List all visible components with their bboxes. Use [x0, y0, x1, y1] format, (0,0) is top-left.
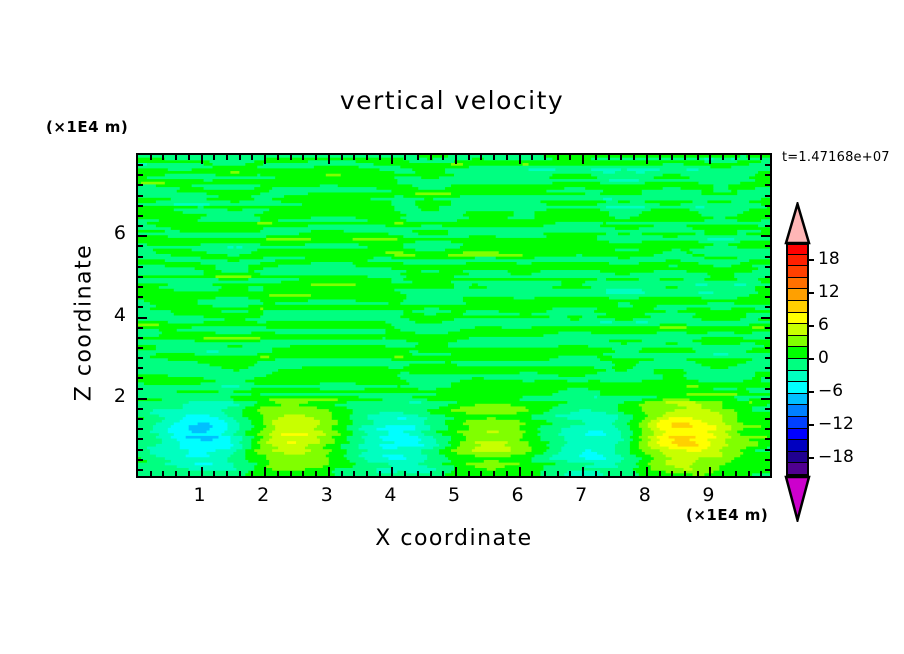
- chart-title: vertical velocity: [0, 86, 904, 115]
- y-tick-label-6: 6: [86, 222, 126, 244]
- colorbar-label-6: 6: [818, 315, 829, 335]
- colorbar-label--6: −6: [818, 381, 843, 401]
- axis-tick: [646, 155, 648, 164]
- axis-tick: [226, 155, 228, 160]
- x-tick-label-2: 2: [243, 484, 283, 506]
- axis-tick: [765, 449, 770, 451]
- axis-tick: [531, 155, 533, 160]
- axis-tick: [290, 471, 292, 476]
- colorbar-tick: [809, 292, 814, 294]
- colorbar-tick: [809, 457, 814, 459]
- axis-tick: [162, 471, 164, 476]
- x-axis-units-label: (×1E4 m): [686, 506, 768, 524]
- axis-tick: [455, 155, 457, 164]
- axis-tick: [328, 155, 330, 164]
- axis-tick: [264, 467, 266, 476]
- axis-tick: [765, 195, 770, 197]
- axis-tick: [138, 327, 143, 329]
- axis-tick: [722, 155, 724, 160]
- axis-tick: [709, 155, 711, 164]
- axis-tick: [150, 155, 152, 160]
- axis-tick: [765, 306, 770, 308]
- axis-tick: [138, 215, 143, 217]
- axis-tick: [379, 155, 381, 160]
- x-axis-title: X coordinate: [136, 526, 772, 551]
- axis-tick: [557, 155, 559, 160]
- axis-tick: [430, 155, 432, 160]
- axis-tick: [765, 438, 770, 440]
- axis-tick: [544, 471, 546, 476]
- axis-tick: [138, 408, 143, 410]
- colorbar-tick: [809, 391, 814, 393]
- axis-tick: [366, 155, 368, 160]
- axis-tick: [519, 467, 521, 476]
- axis-tick: [765, 164, 770, 166]
- axis-tick: [765, 205, 770, 207]
- axis-tick: [608, 155, 610, 160]
- axis-tick: [671, 471, 673, 476]
- colorbar-tick: [809, 325, 814, 327]
- axis-tick: [201, 467, 203, 476]
- axis-tick: [735, 155, 737, 160]
- axis-tick: [765, 388, 770, 390]
- axis-tick: [175, 471, 177, 476]
- x-tick-label-8: 8: [625, 484, 665, 506]
- x-tick-label-4: 4: [370, 484, 410, 506]
- axis-tick: [633, 471, 635, 476]
- axis-tick: [468, 471, 470, 476]
- axis-tick: [188, 155, 190, 160]
- axis-tick: [671, 155, 673, 160]
- axis-tick: [138, 184, 143, 186]
- axis-tick: [138, 195, 143, 197]
- colorbar-under-arrow: [784, 474, 811, 522]
- axis-tick: [765, 286, 770, 288]
- axis-tick: [765, 337, 770, 339]
- axis-tick: [138, 398, 147, 400]
- x-tick-label-5: 5: [434, 484, 474, 506]
- axis-tick: [748, 155, 750, 160]
- axis-tick: [544, 155, 546, 160]
- axis-tick: [493, 155, 495, 160]
- velocity-field-image: [138, 155, 770, 476]
- axis-tick: [765, 367, 770, 369]
- axis-tick: [765, 469, 770, 471]
- axis-tick: [480, 471, 482, 476]
- axis-tick: [188, 471, 190, 476]
- axis-tick: [353, 471, 355, 476]
- axis-tick: [277, 471, 279, 476]
- axis-tick: [213, 471, 215, 476]
- axis-tick: [765, 276, 770, 278]
- axis-tick: [442, 155, 444, 160]
- axis-tick: [138, 296, 143, 298]
- axis-tick: [251, 155, 253, 160]
- axis-tick: [765, 459, 770, 461]
- axis-tick: [480, 155, 482, 160]
- time-annotation: t=1.47168e+07: [782, 150, 904, 165]
- colorbar-tick: [809, 358, 814, 360]
- axis-tick: [162, 155, 164, 160]
- axis-tick: [608, 471, 610, 476]
- axis-tick: [315, 471, 317, 476]
- axis-tick: [765, 428, 770, 430]
- axis-tick: [620, 155, 622, 160]
- axis-tick: [138, 418, 143, 420]
- axis-tick: [417, 155, 419, 160]
- axis-tick: [302, 471, 304, 476]
- y-tick-label-4: 4: [86, 304, 126, 326]
- axis-tick: [582, 467, 584, 476]
- axis-tick: [138, 357, 143, 359]
- axis-tick: [531, 471, 533, 476]
- axis-tick: [748, 471, 750, 476]
- axis-tick: [341, 155, 343, 160]
- colorbar-label--12: −12: [818, 414, 854, 434]
- axis-tick: [138, 205, 143, 207]
- axis-tick: [138, 317, 147, 319]
- contour-plot-area: [136, 153, 772, 478]
- axis-tick: [765, 245, 770, 247]
- axis-tick: [138, 286, 143, 288]
- axis-tick: [765, 266, 770, 268]
- axis-tick: [138, 459, 143, 461]
- chart-canvas: vertical velocity (×1E4 m) (×1E4 m) t=1.…: [0, 0, 904, 654]
- y-tick-label-2: 2: [86, 385, 126, 407]
- y-axis-units-label: (×1E4 m): [46, 118, 128, 136]
- axis-tick: [328, 467, 330, 476]
- axis-tick: [138, 174, 143, 176]
- axis-tick: [290, 155, 292, 160]
- axis-tick: [138, 235, 147, 237]
- axis-tick: [213, 155, 215, 160]
- colorbar-label-18: 18: [818, 249, 840, 269]
- axis-tick: [404, 155, 406, 160]
- axis-tick: [138, 428, 143, 430]
- axis-tick: [569, 155, 571, 160]
- axis-tick: [569, 471, 571, 476]
- axis-tick: [353, 155, 355, 160]
- x-tick-label-7: 7: [561, 484, 601, 506]
- axis-tick: [430, 471, 432, 476]
- axis-tick: [239, 471, 241, 476]
- axis-tick: [761, 398, 770, 400]
- axis-tick: [697, 471, 699, 476]
- axis-tick: [315, 155, 317, 160]
- axis-tick: [150, 471, 152, 476]
- axis-tick: [735, 471, 737, 476]
- axis-tick: [341, 471, 343, 476]
- axis-tick: [765, 408, 770, 410]
- axis-tick: [277, 155, 279, 160]
- x-tick-label-3: 3: [307, 484, 347, 506]
- axis-tick: [138, 388, 143, 390]
- axis-tick: [251, 471, 253, 476]
- axis-tick: [709, 467, 711, 476]
- axis-tick: [506, 155, 508, 160]
- axis-tick: [391, 467, 393, 476]
- axis-tick: [175, 155, 177, 160]
- axis-tick: [765, 225, 770, 227]
- axis-tick: [417, 471, 419, 476]
- axis-tick: [506, 471, 508, 476]
- colorbar-tick: [809, 259, 814, 261]
- axis-tick: [684, 155, 686, 160]
- axis-tick: [697, 155, 699, 160]
- axis-tick: [519, 155, 521, 164]
- axis-tick: [201, 155, 203, 164]
- colorbar-label-12: 12: [818, 282, 840, 302]
- axis-tick: [761, 235, 770, 237]
- axis-tick: [455, 467, 457, 476]
- colorbar-tick: [809, 424, 814, 426]
- axis-tick: [765, 418, 770, 420]
- x-tick-label-1: 1: [180, 484, 220, 506]
- axis-tick: [765, 377, 770, 379]
- axis-tick: [264, 155, 266, 164]
- axis-tick: [138, 245, 143, 247]
- axis-tick: [138, 337, 143, 339]
- colorbar-over-arrow: [784, 202, 811, 245]
- axis-tick: [138, 449, 143, 451]
- axis-tick: [557, 471, 559, 476]
- axis-tick: [684, 471, 686, 476]
- axis-tick: [765, 184, 770, 186]
- axis-tick: [620, 471, 622, 476]
- axis-tick: [366, 471, 368, 476]
- axis-tick: [379, 471, 381, 476]
- axis-tick: [138, 469, 143, 471]
- axis-tick: [138, 377, 143, 379]
- x-tick-label-9: 9: [688, 484, 728, 506]
- colorbar-label--18: −18: [818, 447, 854, 467]
- axis-tick: [765, 327, 770, 329]
- colorbar-label-0: 0: [818, 348, 829, 368]
- axis-tick: [226, 471, 228, 476]
- axis-tick: [138, 276, 143, 278]
- x-tick-label-6: 6: [498, 484, 538, 506]
- axis-tick: [138, 306, 143, 308]
- axis-tick: [442, 471, 444, 476]
- axis-tick: [659, 155, 661, 160]
- axis-tick: [493, 471, 495, 476]
- axis-tick: [138, 225, 143, 227]
- axis-tick: [138, 266, 143, 268]
- axis-tick: [302, 155, 304, 160]
- axis-tick: [760, 155, 762, 160]
- axis-tick: [646, 467, 648, 476]
- axis-tick: [765, 347, 770, 349]
- axis-tick: [595, 155, 597, 160]
- axis-tick: [138, 256, 143, 258]
- axis-tick: [765, 357, 770, 359]
- axis-tick: [239, 155, 241, 160]
- axis-tick: [404, 471, 406, 476]
- axis-tick: [582, 155, 584, 164]
- axis-tick: [633, 155, 635, 160]
- axis-tick: [138, 438, 143, 440]
- axis-tick: [765, 256, 770, 258]
- axis-tick: [468, 155, 470, 160]
- axis-tick: [761, 317, 770, 319]
- axis-tick: [595, 471, 597, 476]
- axis-tick: [760, 471, 762, 476]
- axis-tick: [722, 471, 724, 476]
- axis-tick: [138, 164, 143, 166]
- axis-tick: [659, 471, 661, 476]
- colorbar: [786, 243, 809, 475]
- axis-tick: [765, 296, 770, 298]
- axis-tick: [391, 155, 393, 164]
- axis-tick: [765, 174, 770, 176]
- axis-tick: [138, 367, 143, 369]
- axis-tick: [765, 215, 770, 217]
- axis-tick: [138, 347, 143, 349]
